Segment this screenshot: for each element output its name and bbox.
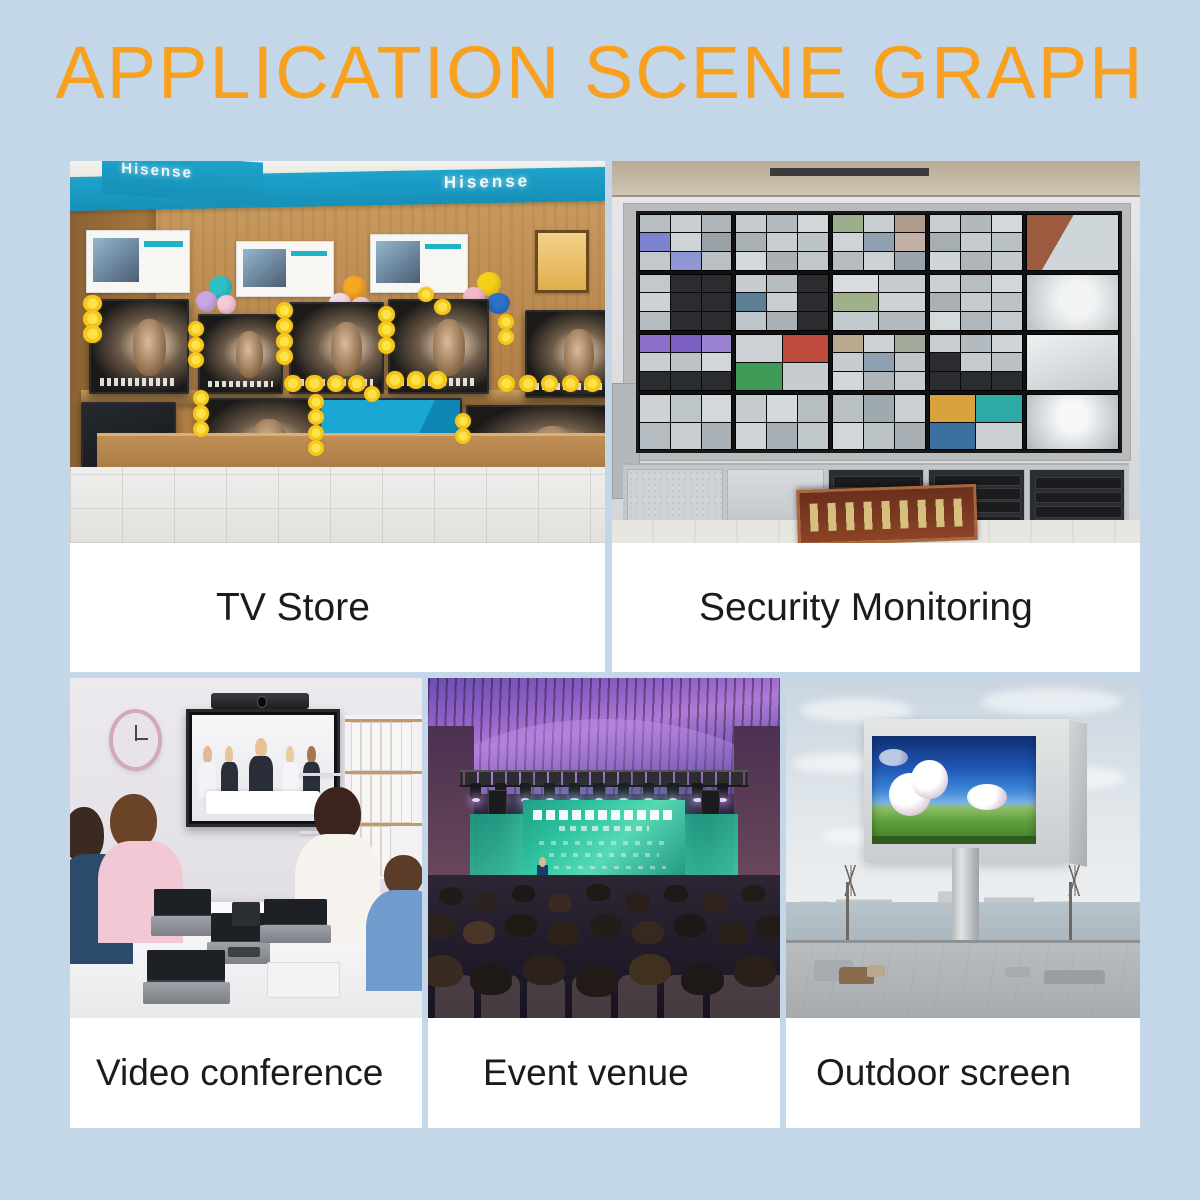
photo-tv-store [70,161,605,543]
led-billboard [864,719,1069,862]
caption-text: Security Monitoring [699,586,1033,630]
scene-card-outdoor-screen[interactable]: Outdoor screen [786,678,1140,1128]
event-venue-illustration [428,678,780,1018]
photo-security-monitoring [612,161,1140,543]
tv-store-illustration [70,161,605,543]
conference-camera [211,693,310,708]
caption-text: TV Store [216,586,370,630]
page-title: APPLICATION SCENE GRAPH [0,36,1200,110]
scene-card-video-conference[interactable]: Video conference [70,678,422,1128]
caption-text: Event venue [483,1052,689,1094]
scene-card-security-monitoring[interactable]: Security Monitoring [612,161,1140,672]
scene-card-event-venue[interactable]: Event venue [428,678,780,1128]
security-monitoring-illustration [612,161,1140,543]
application-scene-graph-page: APPLICATION SCENE GRAPH [0,0,1200,1200]
photo-event-venue [428,678,780,1018]
caption-text: Video conference [96,1052,383,1094]
video-conference-illustration [70,678,422,1018]
caption-security-monitoring: Security Monitoring [612,543,1140,672]
audience [428,875,780,1018]
caption-outdoor-screen: Outdoor screen [786,1018,1140,1128]
caption-event-venue: Event venue [428,1018,780,1128]
outdoor-screen-illustration [786,678,1140,1018]
scene-card-tv-store[interactable]: TV Store [70,161,605,672]
scene-grid: TV Store [70,161,1140,1128]
caption-tv-store: TV Store [70,543,605,672]
wall-clock-icon [109,709,163,771]
video-wall [636,211,1122,454]
floor-sign [796,484,978,543]
photo-outdoor-screen [786,678,1140,1018]
photo-video-conference [70,678,422,1018]
caption-text: Outdoor screen [816,1052,1071,1094]
caption-video-conference: Video conference [70,1018,422,1128]
